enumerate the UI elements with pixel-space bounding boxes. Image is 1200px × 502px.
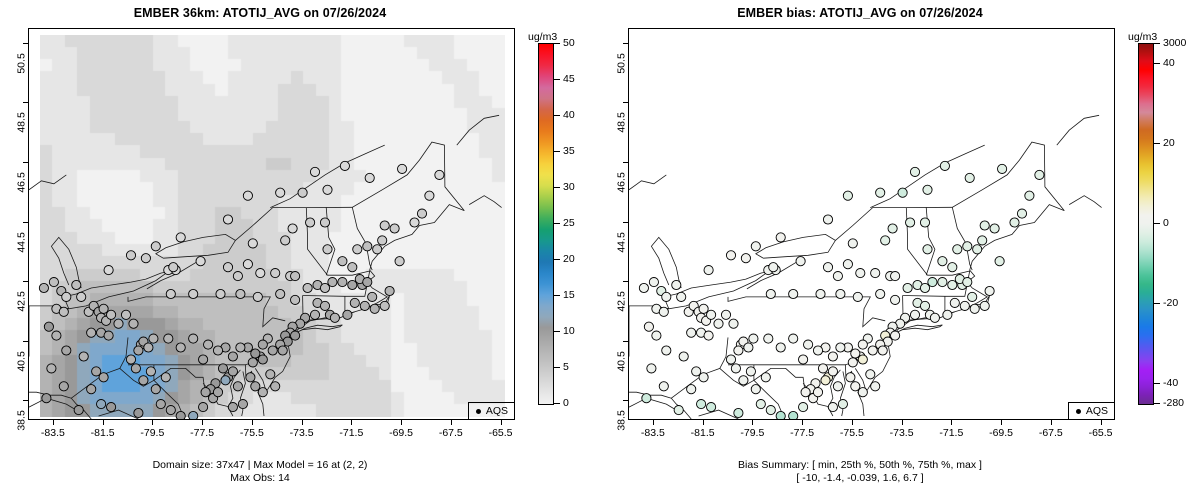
aqs-station-marker [134, 346, 143, 355]
boundary-line [156, 234, 236, 258]
y-tick-label: 50.5 [615, 53, 627, 73]
aqs-station-marker [151, 242, 160, 251]
aqs-station-marker [749, 334, 758, 343]
aqs-station-marker [360, 301, 369, 310]
aqs-station-marker [288, 224, 297, 233]
y-tick-label: 40.5 [15, 351, 27, 371]
y-tick [23, 43, 28, 44]
aqs-station-marker [804, 340, 813, 349]
aqs-station-marker [221, 376, 230, 385]
aqs-station-marker [734, 346, 743, 355]
legend-aqs-label: AQS [1086, 405, 1108, 417]
aqs-station-marker [639, 283, 648, 292]
colorbar-tick-label: 20 [1163, 137, 1175, 149]
aqs-station-marker [836, 343, 845, 352]
aqs-station-marker [789, 411, 798, 419]
aqs-station-marker [223, 263, 232, 272]
aqs-station-markers [39, 161, 444, 419]
map-frame-model: AQS [28, 28, 515, 420]
legend-aqs-bias: AQS [1068, 402, 1114, 419]
y-tick [623, 102, 628, 103]
aqs-station-marker [652, 331, 661, 340]
aqs-station-marker [49, 278, 58, 287]
aqs-station-marker [378, 236, 387, 245]
colorbar-tick-label: 0 [1163, 217, 1169, 229]
aqs-station-marker [144, 343, 153, 352]
aqs-station-marker [734, 408, 743, 417]
caption-bias-line1: Bias Summary: [ min, 25th %, 50th %, 75t… [600, 459, 1120, 472]
y-tick [23, 162, 28, 163]
boundary-line [326, 207, 335, 275]
colorbar-tick-label: 35 [563, 145, 575, 157]
aqs-station-marker [928, 278, 937, 287]
aqs-station-marker [189, 289, 198, 298]
aqs-station-marker [938, 278, 947, 287]
aqs-station-marker [129, 319, 138, 328]
aqs-station-marker [828, 352, 837, 361]
boundary-line [99, 410, 139, 419]
aqs-station-marker [164, 334, 173, 343]
aqs-station-marker [62, 346, 71, 355]
colorbar-tick-label: -280 [1163, 397, 1184, 409]
x-tick [1101, 420, 1102, 425]
x-tick-label: -69.5 [389, 427, 413, 439]
aqs-station-marker [370, 304, 379, 313]
aqs-station-marker [348, 263, 357, 272]
colorbar-tick-label: 20 [563, 253, 575, 265]
aqs-station-marker [746, 367, 755, 376]
colorbar-unit-model: ug/m3 [528, 31, 557, 43]
aqs-station-marker [323, 185, 332, 194]
x-tick [202, 420, 203, 425]
aqs-station-marker [121, 310, 130, 319]
aqs-station-marker [1035, 170, 1044, 179]
aqs-station-marker [973, 245, 982, 254]
aqs-station-marker [126, 251, 135, 260]
aqs-station-marker [789, 289, 798, 298]
x-tick-label: -77.5 [790, 427, 814, 439]
x-tick [351, 420, 352, 425]
boundary-line [906, 208, 969, 276]
aqs-station-marker [853, 292, 862, 301]
aqs-station-marker [729, 319, 738, 328]
aqs-station-marker [310, 310, 319, 319]
aqs-station-marker [340, 161, 349, 170]
aqs-station-marker [213, 388, 222, 397]
boundary-line [858, 205, 1065, 416]
aqs-station-marker [843, 191, 852, 200]
y-tick [23, 222, 28, 223]
colorbar-tick [554, 115, 560, 116]
aqs-station-marker [751, 385, 760, 394]
colorbar-tick [1154, 403, 1160, 404]
panel-title-bias: EMBER bias: ATOTIJ_AVG on 07/26/2024 [600, 6, 1120, 20]
figure-root: EMBER 36km: ATOTIJ_AVG on 07/26/2024 AQS… [0, 0, 1200, 502]
x-tick-label: -73.5 [290, 427, 314, 439]
aqs-station-marker [310, 167, 319, 176]
aqs-station-marker [856, 269, 865, 278]
aqs-station-marker [876, 289, 885, 298]
aqs-station-marker [368, 292, 377, 301]
y-axis-bias: 38.540.542.544.546.548.550.5 [600, 28, 628, 420]
aqs-station-marker [751, 242, 760, 251]
aqs-station-marker [87, 385, 96, 394]
aqs-station-marker [390, 224, 399, 233]
colorbar-tick [554, 295, 560, 296]
aqs-station-marker [236, 343, 245, 352]
aqs-station-marker [707, 310, 716, 319]
x-tick-label: -83.5 [641, 427, 665, 439]
aqs-station-marker [320, 301, 329, 310]
aqs-station-marker [821, 376, 830, 385]
colorbar-tick-label: 30 [563, 181, 575, 193]
aqs-station-marker [189, 334, 198, 343]
aqs-station-marker [871, 382, 880, 391]
colorbar-tick [554, 331, 560, 332]
aqs-station-marker [930, 313, 939, 322]
aqs-station-marker [146, 367, 155, 376]
boundary-line [29, 175, 66, 190]
aqs-station-marker [866, 370, 875, 379]
x-tick [1051, 420, 1052, 425]
aqs-station-marker [823, 215, 832, 224]
aqs-station-marker [963, 242, 972, 251]
aqs-marker-icon [476, 409, 481, 414]
aqs-station-marker [350, 298, 359, 307]
aqs-station-marker [766, 289, 775, 298]
colorbar-unit-bias: ug/m3 [1128, 31, 1157, 43]
aqs-station-marker [796, 257, 805, 266]
x-tick [653, 420, 654, 425]
aqs-station-marker [674, 406, 683, 415]
aqs-station-marker [236, 289, 245, 298]
y-tick-label: 40.5 [615, 351, 627, 371]
aqs-station-marker [189, 411, 198, 419]
x-tick [1001, 420, 1002, 425]
x-tick [103, 420, 104, 425]
boundary-line [306, 208, 369, 276]
aqs-station-marker [365, 173, 374, 182]
aqs-station-marker [816, 289, 825, 298]
aqs-station-marker [980, 301, 989, 310]
aqs-station-marker [980, 221, 989, 230]
aqs-station-marker [843, 260, 852, 269]
aqs-station-marker [131, 364, 140, 373]
aqs-station-marker [672, 280, 681, 289]
aqs-station-marker [425, 191, 434, 200]
y-tick [23, 400, 28, 401]
x-tick [802, 420, 803, 425]
map-frame-bias: AQS [628, 28, 1115, 420]
y-tick-label: 46.5 [15, 172, 27, 192]
aqs-station-marker [303, 283, 312, 292]
aqs-station-marker [764, 334, 773, 343]
x-tick-label: -69.5 [989, 427, 1013, 439]
y-tick-label: 44.5 [615, 232, 627, 252]
legend-aqs-model: AQS [468, 402, 514, 419]
legend-aqs-label: AQS [486, 405, 508, 417]
aqs-station-marker [134, 408, 143, 417]
aqs-station-marker [59, 307, 68, 316]
x-tick-label: -79.5 [740, 427, 764, 439]
aqs-station-marker [139, 376, 148, 385]
boundary-line [128, 297, 285, 327]
aqs-station-marker [677, 292, 686, 301]
colorbar-model [538, 43, 554, 405]
aqs-station-marker [943, 310, 952, 319]
aqs-station-marker [320, 218, 329, 227]
colorbar-tick-label: 45 [563, 73, 575, 85]
x-tick-label: -71.5 [939, 427, 963, 439]
aqs-station-marker [789, 334, 798, 343]
aqs-station-marker [298, 188, 307, 197]
aqs-station-marker [910, 310, 919, 319]
aqs-station-marker [923, 185, 932, 194]
y-tick [23, 281, 28, 282]
boundary-line [1057, 115, 1099, 145]
map-overlay-model [29, 29, 514, 419]
aqs-station-marker [970, 304, 979, 313]
aqs-station-marker [176, 343, 185, 352]
aqs-station-marker [59, 382, 68, 391]
aqs-station-marker [687, 328, 696, 337]
aqs-station-marker [176, 233, 185, 242]
aqs-station-marker [199, 403, 208, 412]
aqs-station-marker [256, 269, 265, 278]
aqs-station-marker [828, 367, 837, 376]
aqs-station-marker [828, 403, 837, 412]
x-axis-model: -83.5-81.5-79.5-77.5-75.5-73.5-71.5-69.5… [28, 420, 515, 446]
aqs-station-marker [953, 245, 962, 254]
y-tick [623, 281, 628, 282]
x-tick-label: -81.5 [691, 427, 715, 439]
colorbar-tick [554, 367, 560, 368]
aqs-station-marker [216, 289, 225, 298]
aqs-station-marker [228, 352, 237, 361]
x-tick [852, 420, 853, 425]
aqs-station-marker [649, 278, 658, 287]
aqs-station-marker [151, 385, 160, 394]
y-tick-label: 38.5 [615, 410, 627, 430]
boundary-line [629, 175, 666, 190]
panel-title-model: EMBER 36km: ATOTIJ_AVG on 07/26/2024 [0, 6, 520, 20]
aqs-marker-icon [1076, 409, 1081, 414]
x-tick-label: -67.5 [1039, 427, 1063, 439]
aqs-station-marker [218, 364, 227, 373]
y-tick [623, 400, 628, 401]
y-tick-label: 48.5 [15, 113, 27, 133]
aqs-station-marker [258, 340, 267, 349]
y-tick [623, 162, 628, 163]
colorbar-tick-label: 25 [563, 217, 575, 229]
aqs-station-marker [644, 322, 653, 331]
boundary-line [699, 410, 739, 419]
aqs-station-marker [238, 400, 247, 409]
y-tick-label: 50.5 [15, 53, 27, 73]
aqs-station-marker [920, 218, 929, 227]
panel-bias: EMBER bias: ATOTIJ_AVG on 07/26/2024 AQS… [600, 0, 1200, 502]
boundary-line [352, 207, 372, 270]
x-tick [53, 420, 54, 425]
aqs-station-marker [858, 388, 867, 397]
aqs-station-marker [846, 373, 855, 382]
aqs-station-marker [233, 272, 242, 281]
x-tick [152, 420, 153, 425]
aqs-station-marker [891, 295, 900, 304]
aqs-station-marker [906, 218, 915, 227]
colorbar-tick-label: -40 [1163, 377, 1178, 389]
aqs-station-marker [62, 292, 71, 301]
aqs-station-marker [104, 331, 113, 340]
aqs-station-marker [948, 263, 957, 272]
x-tick [302, 420, 303, 425]
x-tick [951, 420, 952, 425]
colorbar-tick [1154, 303, 1160, 304]
aqs-station-marker [679, 352, 688, 361]
aqs-station-marker [126, 355, 135, 364]
aqs-station-marker [228, 367, 237, 376]
aqs-station-marker [435, 170, 444, 179]
aqs-station-marker [876, 188, 885, 197]
y-axis-model: 38.540.542.544.546.548.550.5 [0, 28, 28, 420]
boundary-line [258, 205, 465, 416]
aqs-station-marker [968, 292, 977, 301]
aqs-station-marker [965, 173, 974, 182]
aqs-station-marker [776, 411, 785, 419]
aqs-station-marker [799, 403, 808, 412]
aqs-station-marker [960, 301, 969, 310]
aqs-station-marker [891, 272, 900, 281]
caption-model-line2: Max Obs: 14 [0, 472, 520, 485]
aqs-station-marker [799, 355, 808, 364]
colorbar-tick-label: 40 [1163, 57, 1175, 69]
colorbar-tick [1154, 143, 1160, 144]
x-tick [451, 420, 452, 425]
aqs-station-marker [1017, 209, 1026, 218]
aqs-station-marker [141, 254, 150, 263]
colorbar-tick-label: 3000 [1163, 37, 1186, 49]
aqs-station-marker [990, 224, 999, 233]
aqs-station-marker [213, 346, 222, 355]
aqs-station-marker [258, 355, 267, 364]
aqs-station-marker [687, 385, 696, 394]
aqs-station-marker [380, 221, 389, 230]
boundary-line [926, 207, 935, 275]
boundary-line [756, 234, 836, 258]
aqs-station-marker [662, 346, 671, 355]
aqs-station-marker [938, 257, 947, 266]
x-tick [252, 420, 253, 425]
aqs-station-marker [380, 301, 389, 310]
colorbar-tick-label: 5 [563, 361, 569, 373]
x-tick [752, 420, 753, 425]
aqs-station-markers [639, 161, 1044, 419]
colorbar-tick [1154, 43, 1160, 44]
y-tick-label: 44.5 [15, 232, 27, 252]
colorbar-tick-label: -20 [1163, 297, 1178, 309]
aqs-station-marker [74, 406, 83, 415]
aqs-station-marker [920, 301, 929, 310]
aqs-station-marker [868, 346, 877, 355]
aqs-station-marker [704, 331, 713, 340]
aqs-station-marker [268, 346, 277, 355]
aqs-station-marker [761, 373, 770, 382]
aqs-station-marker [910, 167, 919, 176]
y-tick [23, 102, 28, 103]
aqs-station-marker [114, 319, 123, 328]
colorbar-tick [554, 187, 560, 188]
aqs-station-marker [417, 209, 426, 218]
colorbar-tick [554, 79, 560, 80]
colorbar-tick [554, 223, 560, 224]
x-tick [501, 420, 502, 425]
y-tick-label: 46.5 [615, 172, 627, 192]
aqs-station-marker [940, 161, 949, 170]
aqs-station-marker [707, 403, 716, 412]
aqs-station-marker [766, 406, 775, 415]
aqs-station-marker [79, 352, 88, 361]
aqs-station-marker [714, 319, 723, 328]
y-tick [623, 341, 628, 342]
colorbar-bias [1138, 43, 1154, 405]
x-axis-bias: -83.5-81.5-79.5-77.5-75.5-73.5-71.5-69.5… [628, 420, 1115, 446]
aqs-station-marker [813, 388, 822, 397]
aqs-station-marker [662, 292, 671, 301]
x-tick-label: -73.5 [890, 427, 914, 439]
aqs-station-marker [998, 164, 1007, 173]
aqs-station-marker [813, 346, 822, 355]
aqs-station-marker [363, 242, 372, 251]
colorbar-tick [554, 403, 560, 404]
y-tick-label: 38.5 [15, 410, 27, 430]
aqs-station-marker [878, 346, 887, 355]
colorbar-tick [554, 151, 560, 152]
aqs-station-marker [169, 263, 178, 272]
x-tick-label: -65.5 [489, 427, 513, 439]
aqs-station-marker [833, 382, 842, 391]
x-tick-label: -65.5 [1089, 427, 1113, 439]
y-tick-label: 42.5 [15, 291, 27, 311]
colorbar-tick-label: 0 [563, 397, 569, 409]
aqs-station-marker [97, 400, 106, 409]
aqs-station-marker [44, 322, 53, 331]
aqs-station-marker [258, 388, 267, 397]
colorbar-tick [554, 43, 560, 44]
map-area-model [29, 29, 514, 419]
aqs-station-marker [161, 373, 170, 382]
aqs-station-marker [77, 292, 86, 301]
map-area-bias [629, 29, 1114, 419]
aqs-station-marker [833, 272, 842, 281]
y-tick [623, 43, 628, 44]
aqs-station-marker [721, 310, 730, 319]
caption-model-line1: Domain size: 37x47 | Max Model = 16 at (… [0, 459, 520, 472]
colorbar-tick [554, 259, 560, 260]
y-tick-label: 48.5 [615, 113, 627, 133]
aqs-station-marker [363, 278, 372, 287]
aqs-station-marker [801, 388, 810, 397]
aqs-station-marker [704, 266, 713, 275]
boundary-line [469, 196, 501, 208]
aqs-station-marker [756, 400, 765, 409]
aqs-station-marker [726, 355, 735, 364]
x-tick [902, 420, 903, 425]
aqs-station-marker [871, 269, 880, 278]
aqs-station-marker [731, 364, 740, 373]
colorbar-tick-label: 40 [563, 109, 575, 121]
y-tick [23, 341, 28, 342]
aqs-station-marker [739, 376, 748, 385]
